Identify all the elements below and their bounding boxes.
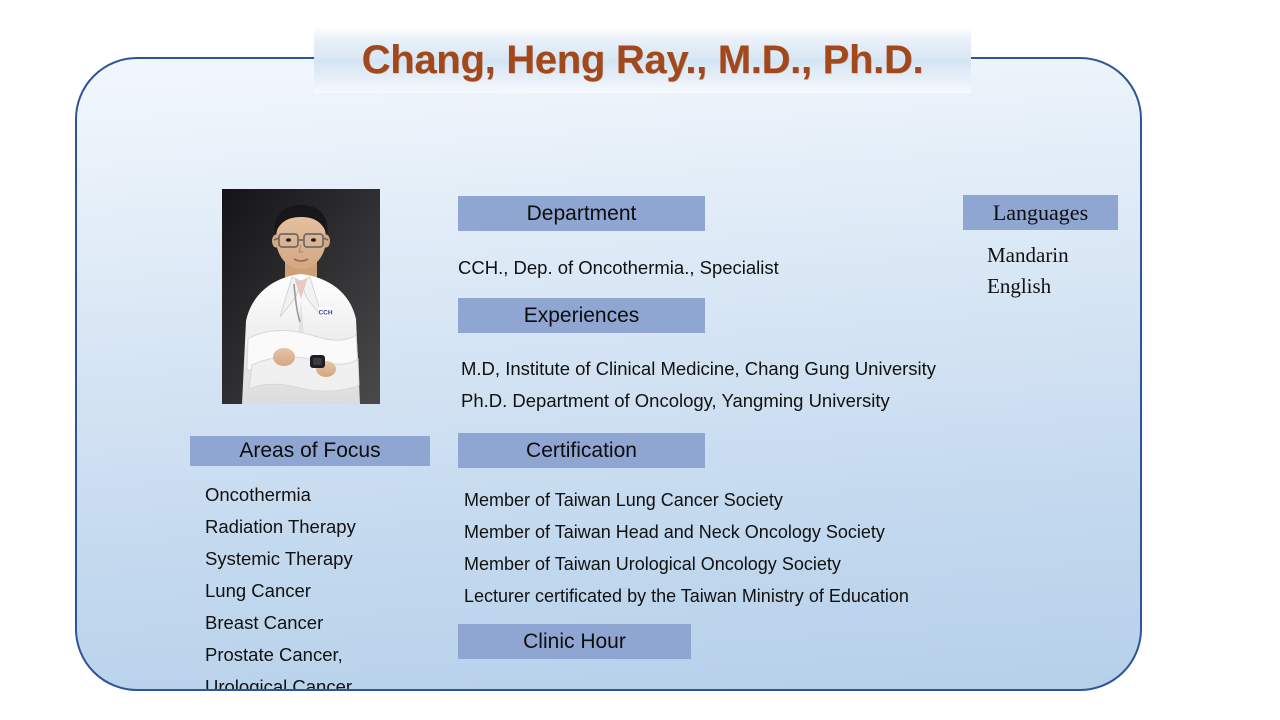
page-title: Chang, Heng Ray., M.D., Ph.D. <box>362 38 924 83</box>
portrait-illustration: CCH <box>222 189 380 404</box>
area-item: Lung Cancer <box>205 575 390 607</box>
section-label-certification: Certification <box>458 433 705 468</box>
language-item: Mandarin <box>987 240 1069 271</box>
doctor-portrait-photo: CCH <box>222 189 380 404</box>
department-line: CCH., Dep. of Oncothermia., Specialist <box>458 252 779 284</box>
experiences-label-text: Experiences <box>524 304 640 328</box>
page-title-banner: Chang, Heng Ray., M.D., Ph.D. <box>314 28 971 93</box>
section-label-experiences: Experiences <box>458 298 705 333</box>
languages-content: Mandarin English <box>987 240 1069 302</box>
language-item: English <box>987 271 1069 302</box>
experiences-line: M.D, Institute of Clinical Medicine, Cha… <box>461 353 936 385</box>
profile-card: CCH <box>75 57 1142 691</box>
area-item: Systemic Therapy <box>205 543 390 575</box>
department-content: CCH., Dep. of Oncothermia., Specialist <box>458 252 779 284</box>
experiences-content: M.D, Institute of Clinical Medicine, Cha… <box>461 353 936 417</box>
area-item: Oncothermia <box>205 479 390 511</box>
areas-of-focus-content: Oncothermia Radiation Therapy Systemic T… <box>205 479 390 691</box>
clinic-hour-content: Thur. AM 10:00~12:00 <box>460 686 643 691</box>
section-label-department: Department <box>458 196 705 231</box>
area-item: Breast Cancer <box>205 607 390 639</box>
svg-text:CCH: CCH <box>318 310 332 317</box>
certification-item: Member of Taiwan Head and Neck Oncology … <box>464 516 909 548</box>
clinic-hour-label-text: Clinic Hour <box>523 630 626 654</box>
area-item: Radiation Therapy <box>205 511 390 543</box>
certification-content: Member of Taiwan Lung Cancer Society Mem… <box>464 484 909 612</box>
section-label-languages: Languages <box>963 195 1118 230</box>
areas-of-focus-label-text: Areas of Focus <box>239 439 380 463</box>
area-item: Urological Cancer <box>205 671 390 691</box>
clinic-hour-line: Thur. AM 10:00~12:00 <box>460 686 643 691</box>
department-label-text: Department <box>527 202 637 226</box>
experiences-line: Ph.D. Department of Oncology, Yangming U… <box>461 385 936 417</box>
section-label-areas-of-focus: Areas of Focus <box>190 436 430 466</box>
languages-label-text: Languages <box>993 200 1088 226</box>
certification-item: Member of Taiwan Lung Cancer Society <box>464 484 909 516</box>
certification-item: Lecturer certificated by the Taiwan Mini… <box>464 580 909 612</box>
certification-item: Member of Taiwan Urological Oncology Soc… <box>464 548 909 580</box>
area-item: Prostate Cancer, <box>205 639 390 671</box>
certification-label-text: Certification <box>526 439 637 463</box>
section-label-clinic-hour: Clinic Hour <box>458 624 691 659</box>
